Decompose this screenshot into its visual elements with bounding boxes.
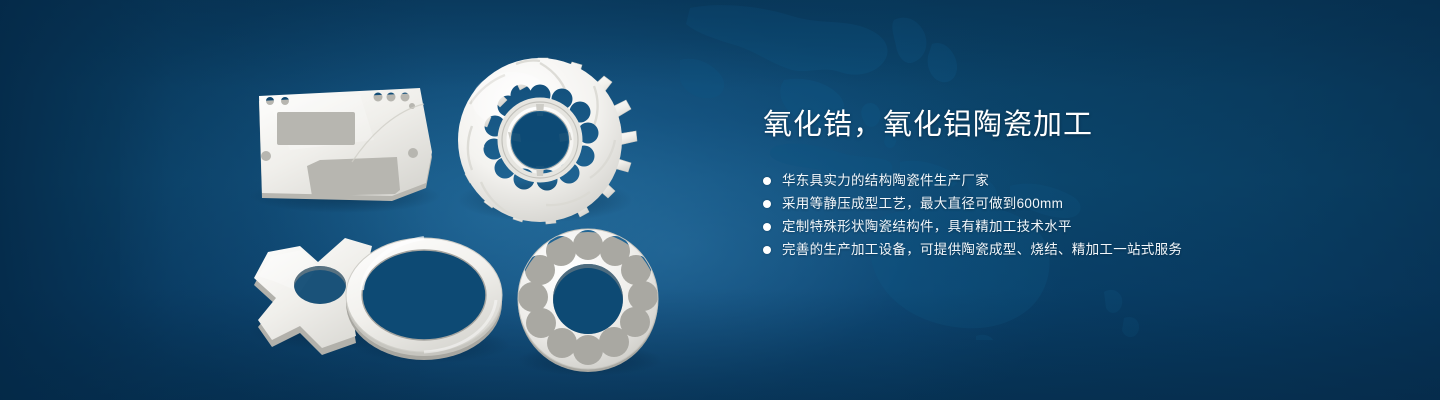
bullet-dot-icon <box>763 200 771 208</box>
promo-banner: 氧化锆，氧化铝陶瓷加工 华东具实力的结构陶瓷件生产厂家 采用等静压成型工艺，最大… <box>0 0 1440 400</box>
bullet-dot-icon <box>763 223 771 231</box>
bullet-dot-icon <box>763 246 771 254</box>
ceramic-mounting-plate <box>259 88 432 201</box>
list-item-label: 采用等静压成型工艺，最大直径可做到600mm <box>782 192 1063 215</box>
list-item-label: 完善的生产加工设备，可提供陶瓷成型、烧结、精加工一站式服务 <box>782 238 1182 261</box>
page-title: 氧化锆，氧化铝陶瓷加工 <box>763 108 1363 142</box>
ceramic-ring <box>346 238 502 360</box>
impeller-hub <box>502 102 578 178</box>
bullet-dot-icon <box>763 177 771 185</box>
ceramic-parts-photo <box>0 0 740 400</box>
list-item-label: 定制特殊形状陶瓷结构件，具有精加工技术水平 <box>782 215 1072 238</box>
list-item: 华东具实力的结构陶瓷件生产厂家 <box>763 169 1363 192</box>
list-item: 采用等静压成型工艺，最大直径可做到600mm <box>763 192 1363 215</box>
list-item: 完善的生产加工设备，可提供陶瓷成型、烧结、精加工一站式服务 <box>763 238 1363 261</box>
list-item: 定制特殊形状陶瓷结构件，具有精加工技术水平 <box>763 215 1363 238</box>
marketing-copy: 氧化锆，氧化铝陶瓷加工 华东具实力的结构陶瓷件生产厂家 采用等静压成型工艺，最大… <box>763 108 1363 261</box>
list-item-label: 华东具实力的结构陶瓷件生产厂家 <box>782 169 989 192</box>
feature-list: 华东具实力的结构陶瓷件生产厂家 采用等静压成型工艺，最大直径可做到600mm 定… <box>763 169 1363 261</box>
